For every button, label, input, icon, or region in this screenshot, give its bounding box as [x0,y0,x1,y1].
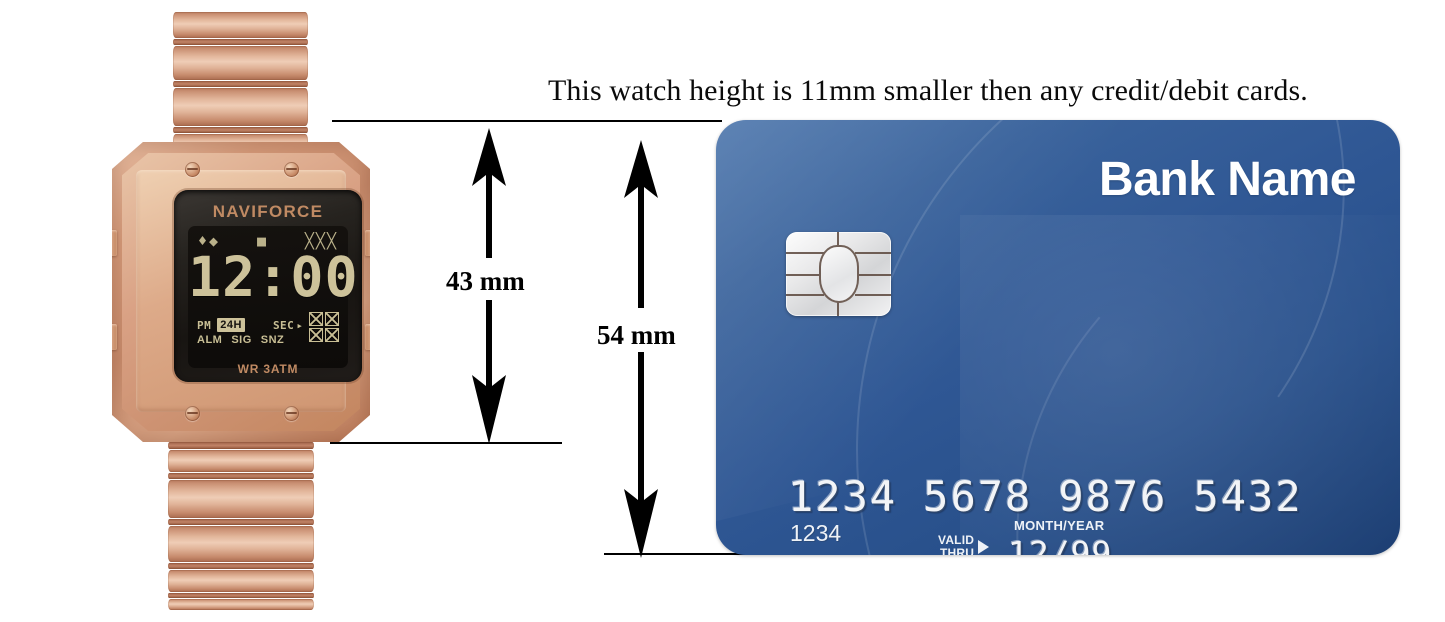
lcd-indicator-alm: ALM [197,334,222,346]
watch-pusher-left-bottom[interactable] [101,324,117,350]
watch-product-image: NAVIFORCE ♦◆■╳╳╳ 12:00 PM 24H SEC ▸ [60,12,420,612]
lcd-segment-blocks [309,312,339,342]
screw-icon [284,406,299,421]
lcd-indicator-sig: SIG [231,334,251,346]
card-bank-name: Bank Name [1099,152,1356,207]
lcd-seconds-label: SEC [273,319,294,332]
dimension-label-watch: 43 mm [446,266,525,297]
lcd-indicator-snz: SNZ [261,334,285,346]
watch-dial: NAVIFORCE ♦◆■╳╳╳ 12:00 PM 24H SEC ▸ [174,190,362,382]
watch-pusher-left-top[interactable] [101,230,117,256]
watch-pusher-right-top[interactable] [365,230,381,256]
month-year-label: MONTH/YEAR [1014,518,1104,533]
comparison-figure: This watch height is 11mm smaller then a… [0,0,1445,622]
watch-band-top [173,12,308,152]
screw-icon [284,162,299,177]
watch-pusher-right-bottom[interactable] [365,324,381,350]
lcd-format-badge: 24H [217,318,245,332]
card-number-group: 5432 [1193,472,1302,521]
card-expiry: 12/99 [1008,534,1112,555]
card-number-group: 1234 [788,472,897,521]
screw-icon [185,162,200,177]
lcd-time: 12:00 [188,250,342,305]
play-triangle-icon: ▸ [296,319,303,332]
valid-label-line2: THRU [940,546,974,555]
emv-chip-icon [786,232,891,316]
lcd-block [325,312,339,326]
lcd-block [325,328,339,342]
watch-band-bottom [168,442,314,610]
valid-thru-label: VALID THRU [938,534,974,555]
card-number-suffix: 1234 [790,520,841,547]
dimension-label-card: 54 mm [597,320,676,351]
lcd-block [309,312,323,326]
page-title: This watch height is 11mm smaller then a… [548,74,1308,108]
credit-card-image: Bank Name 1234567898765432 1234 VALID TH… [716,120,1400,555]
watch-brand-label: NAVIFORCE [174,202,362,222]
watch-water-resistance-label: WR 3ATM [174,362,362,376]
watch-case: NAVIFORCE ♦◆■╳╳╳ 12:00 PM 24H SEC ▸ [112,142,370,442]
card-number-group: 5678 [923,472,1032,521]
watch-lcd-display: ♦◆■╳╳╳ 12:00 PM 24H SEC ▸ ALM SIG [188,226,348,368]
chip-core [819,245,859,303]
screw-icon [185,406,200,421]
lcd-meridiem: PM [197,319,211,332]
card-number: 1234567898765432 [788,472,1303,521]
lcd-seconds-label-wrap: SEC ▸ [273,319,304,332]
valid-thru-block: VALID THRU [938,534,995,555]
card-number-group: 9876 [1058,472,1167,521]
triangle-icon [978,540,989,554]
lcd-block [309,328,323,342]
